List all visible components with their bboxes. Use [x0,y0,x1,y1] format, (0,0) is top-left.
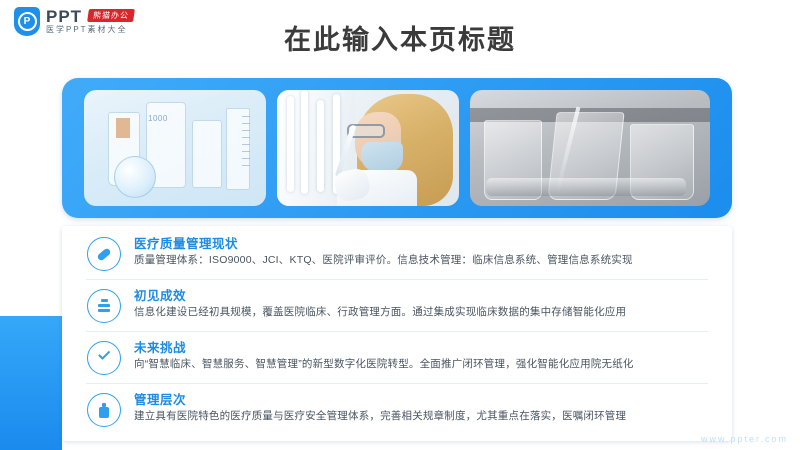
scientist-image [277,90,459,206]
glassware-volume-text: 1000 [148,114,168,123]
beakers-image [470,90,710,206]
page-title: 在此输入本页标题 [0,18,800,57]
list-item-title: 医疗质量管理现状 [134,233,238,252]
list-item-desc: 建立具有医院特色的医疗质量与医疗安全管理体系，完善相关规章制度，尤其重点在落实，… [134,408,714,423]
list-item-title: 未来挑战 [134,337,186,356]
bottle-icon [87,393,121,427]
list-item[interactable]: 初见成效 信息化建设已经初具规模，覆盖医院临床、行政管理方面。通过集成实现临床数… [62,280,732,332]
left-blue-band [0,316,62,450]
list-item-desc: 向“智慧临床、智慧服务、智慧管理”的新型数字化医院转型。全面推广闭环管理，强化智… [134,356,714,371]
list-item-title: 初见成效 [134,285,186,304]
list-item[interactable]: 未来挑战 向“智慧临床、智慧服务、智慧管理”的新型数字化医院转型。全面推广闭环管… [62,332,732,384]
list-item[interactable]: 管理层次 建立具有医院特色的医疗质量与医疗安全管理体系，完善相关规章制度，尤其重… [62,384,732,436]
photo-panel: 1000 [62,78,732,218]
face-mask [361,142,403,172]
list-item-title: 管理层次 [134,389,186,408]
footer-site: www.ppter.com [701,434,788,444]
graduation-ticks [242,116,250,180]
content-card: 医疗质量管理现状 质量管理体系：ISO9000、JCI、KTQ、医院评审评价。信… [62,226,732,441]
lab-glassware-photo: 1000 [84,90,266,206]
list-item-desc: 信息化建设已经初具规模，覆盖医院临床、行政管理方面。通过集成实现临床数据的集中存… [134,304,714,319]
liquid-surface [486,178,686,196]
slide: P PPT 熊猫办公 医学PPT素材大全 在此输入本页标题 1000 [0,0,800,450]
lab-glassware-image: 1000 [84,90,266,206]
round-flask-shape [114,156,156,198]
beakers-grayscale-photo [470,90,710,206]
pill-icon [87,237,121,271]
flask-shape [192,120,222,188]
check-icon [87,341,121,375]
stack-icon [87,289,121,323]
list-item-desc: 质量管理体系：ISO9000、JCI、KTQ、医院评审评价。信息技术管理：临床信… [134,252,714,267]
bottle-label [116,118,130,138]
scientist-photo [277,90,459,206]
list-item[interactable]: 医疗质量管理现状 质量管理体系：ISO9000、JCI、KTQ、医院评审评价。信… [62,228,732,280]
